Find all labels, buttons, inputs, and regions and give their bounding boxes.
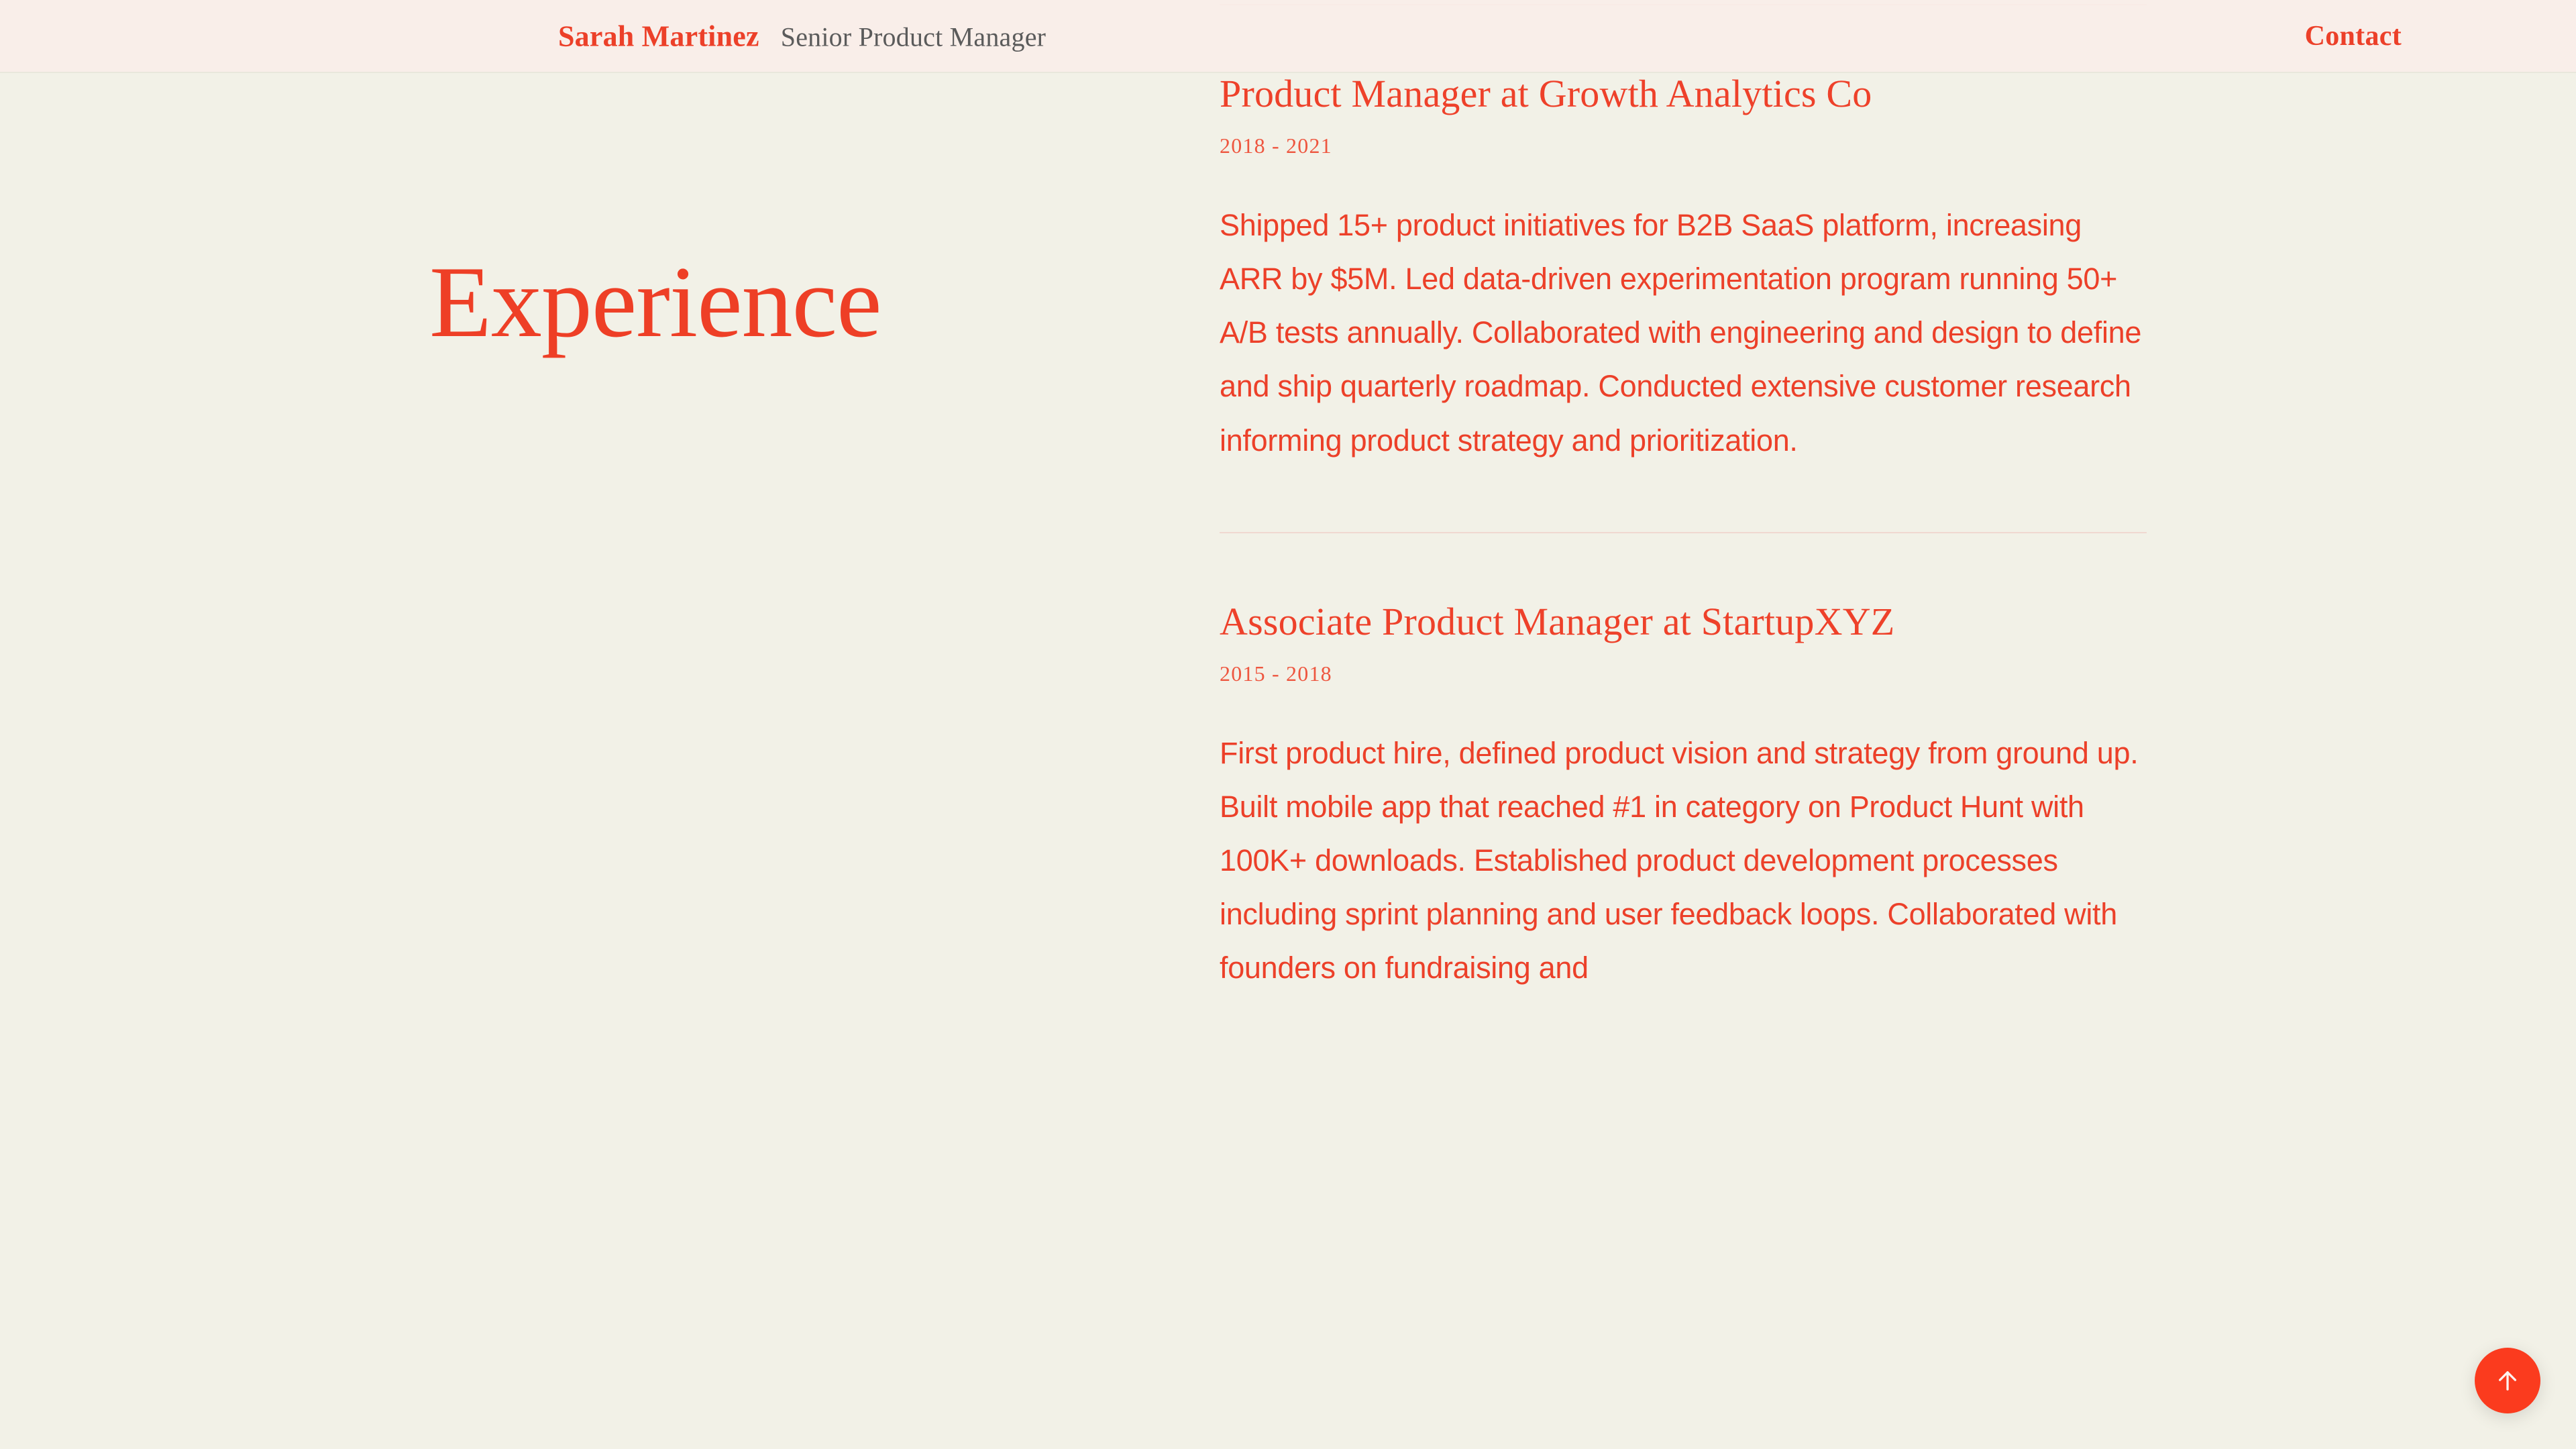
arrow-up-icon	[2493, 1366, 2522, 1395]
entry-divider	[1220, 532, 2147, 533]
brand[interactable]: Sarah Martinez Senior Product Manager	[558, 19, 1046, 53]
nav-link-contact[interactable]: Contact	[2305, 20, 2402, 52]
site-header: Sarah Martinez Senior Product Manager Co…	[0, 0, 2576, 73]
section-heading-column: Experience	[429, 166, 1100, 437]
experience-entry: Product Manager at Growth Analytics Co 2…	[1220, 72, 2147, 467]
entry-title: Product Manager at Growth Analytics Co	[1220, 72, 2147, 116]
entry-dates: 2015 - 2018	[1220, 661, 2147, 686]
entry-description: First product hire, defined product visi…	[1220, 727, 2147, 995]
experience-list: engineers, designers, and analysts. Defi…	[1220, 0, 2147, 995]
entry-description: Shipped 15+ product initiatives for B2B …	[1220, 199, 2147, 467]
page-title: Experience	[429, 251, 1100, 353]
scroll-to-top-button[interactable]	[2475, 1348, 2540, 1413]
entry-dates: 2018 - 2021	[1220, 133, 2147, 158]
brand-role: Senior Product Manager	[781, 21, 1046, 52]
brand-name[interactable]: Sarah Martinez	[558, 19, 759, 53]
page-root: engineers, designers, and analysts. Defi…	[0, 0, 2576, 1449]
experience-entry: Associate Product Manager at StartupXYZ …	[1220, 600, 2147, 995]
entry-title: Associate Product Manager at StartupXYZ	[1220, 600, 2147, 644]
